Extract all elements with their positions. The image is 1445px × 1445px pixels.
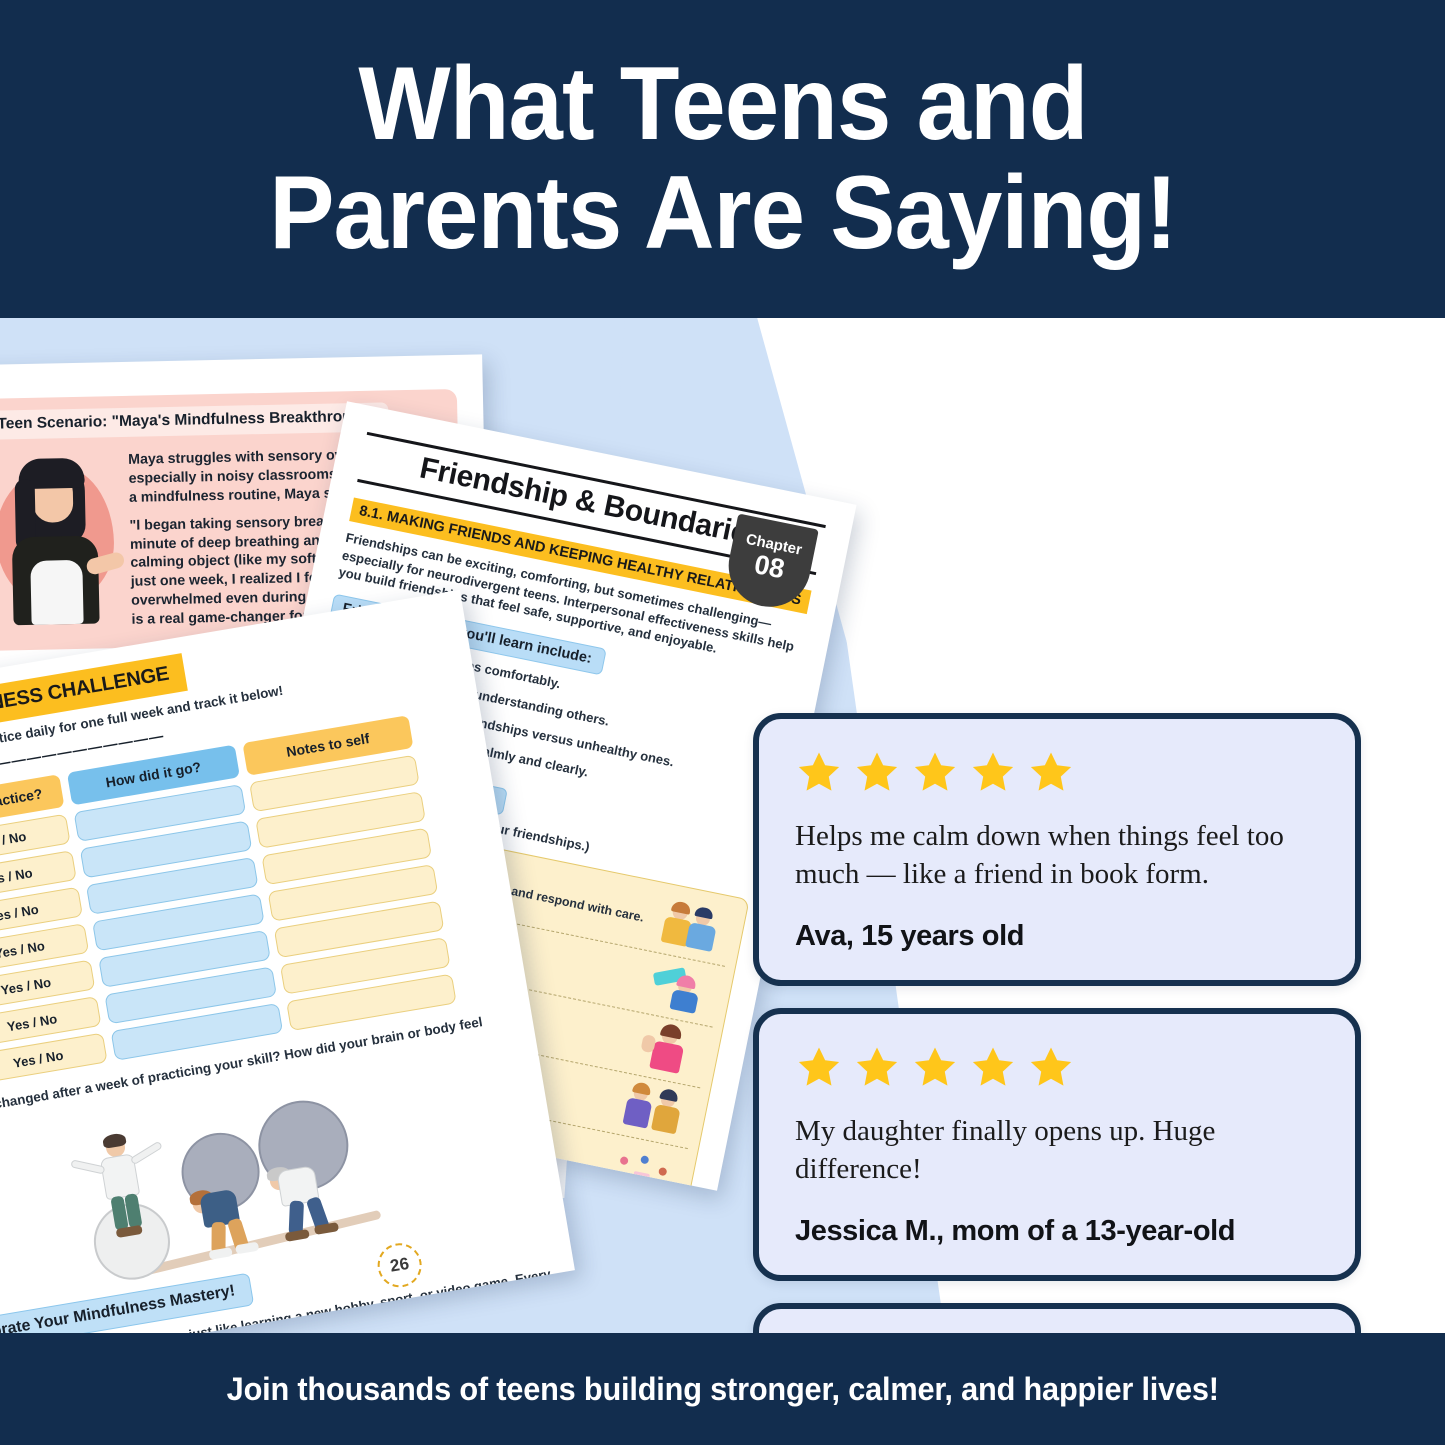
star-icon xyxy=(795,749,843,795)
star-icon xyxy=(911,749,959,795)
page-title-line-1: What Teens and xyxy=(144,50,1300,159)
star-icon xyxy=(853,1044,901,1090)
practice-cell[interactable]: Yes / No xyxy=(0,1033,108,1085)
handshake-icon xyxy=(621,1080,699,1141)
teen-illustration-icon xyxy=(0,447,122,625)
testimonial-card-list: Helps me calm down when things feel too … xyxy=(753,713,1361,1333)
testimonial-card: My daughter finally opens up. Huge diffe… xyxy=(753,1008,1361,1281)
page-title: What Teens and Parents Are Saying! xyxy=(144,50,1300,268)
stop-hand-icon xyxy=(633,1019,711,1080)
scenario-title: Teen Scenario: "Maya's Mindfulness Break… xyxy=(0,402,388,439)
main-stage: Teen Scenario: "Maya's Mindfulness Break… xyxy=(0,318,1445,1333)
footer-text: Join thousands of teens building stronge… xyxy=(226,1371,1218,1408)
testimonial-author: Ava, 15 years old xyxy=(795,920,1319,953)
testimonial-card: Helps me calm down when things feel too … xyxy=(753,713,1361,986)
star-rating xyxy=(795,1044,1319,1090)
star-icon xyxy=(853,749,901,795)
testimonial-quote: Helps me calm down when things feel too … xyxy=(795,817,1319,894)
star-icon xyxy=(969,1044,1017,1090)
megaphone-icon xyxy=(646,958,724,1019)
testimonial-author: Jessica M., mom of a 13-year-old xyxy=(795,1215,1319,1248)
page-title-line-2: Parents Are Saying! xyxy=(144,159,1300,268)
testimonial-quote: My daughter finally opens up. Huge diffe… xyxy=(795,1112,1319,1189)
star-icon xyxy=(1027,1044,1075,1090)
testimonial-card: Fun, helpful, and not boring — I’m actua… xyxy=(753,1303,1361,1333)
poster-root: What Teens and Parents Are Saying! Teen … xyxy=(0,0,1445,1445)
two-friends-icon xyxy=(658,898,736,959)
star-icon xyxy=(911,1044,959,1090)
star-rating xyxy=(795,749,1319,795)
header-banner: What Teens and Parents Are Saying! xyxy=(0,0,1445,318)
footer-banner: Join thousands of teens building stronge… xyxy=(0,1333,1445,1445)
star-icon xyxy=(969,749,1017,795)
star-icon xyxy=(1027,749,1075,795)
star-icon xyxy=(795,1044,843,1090)
